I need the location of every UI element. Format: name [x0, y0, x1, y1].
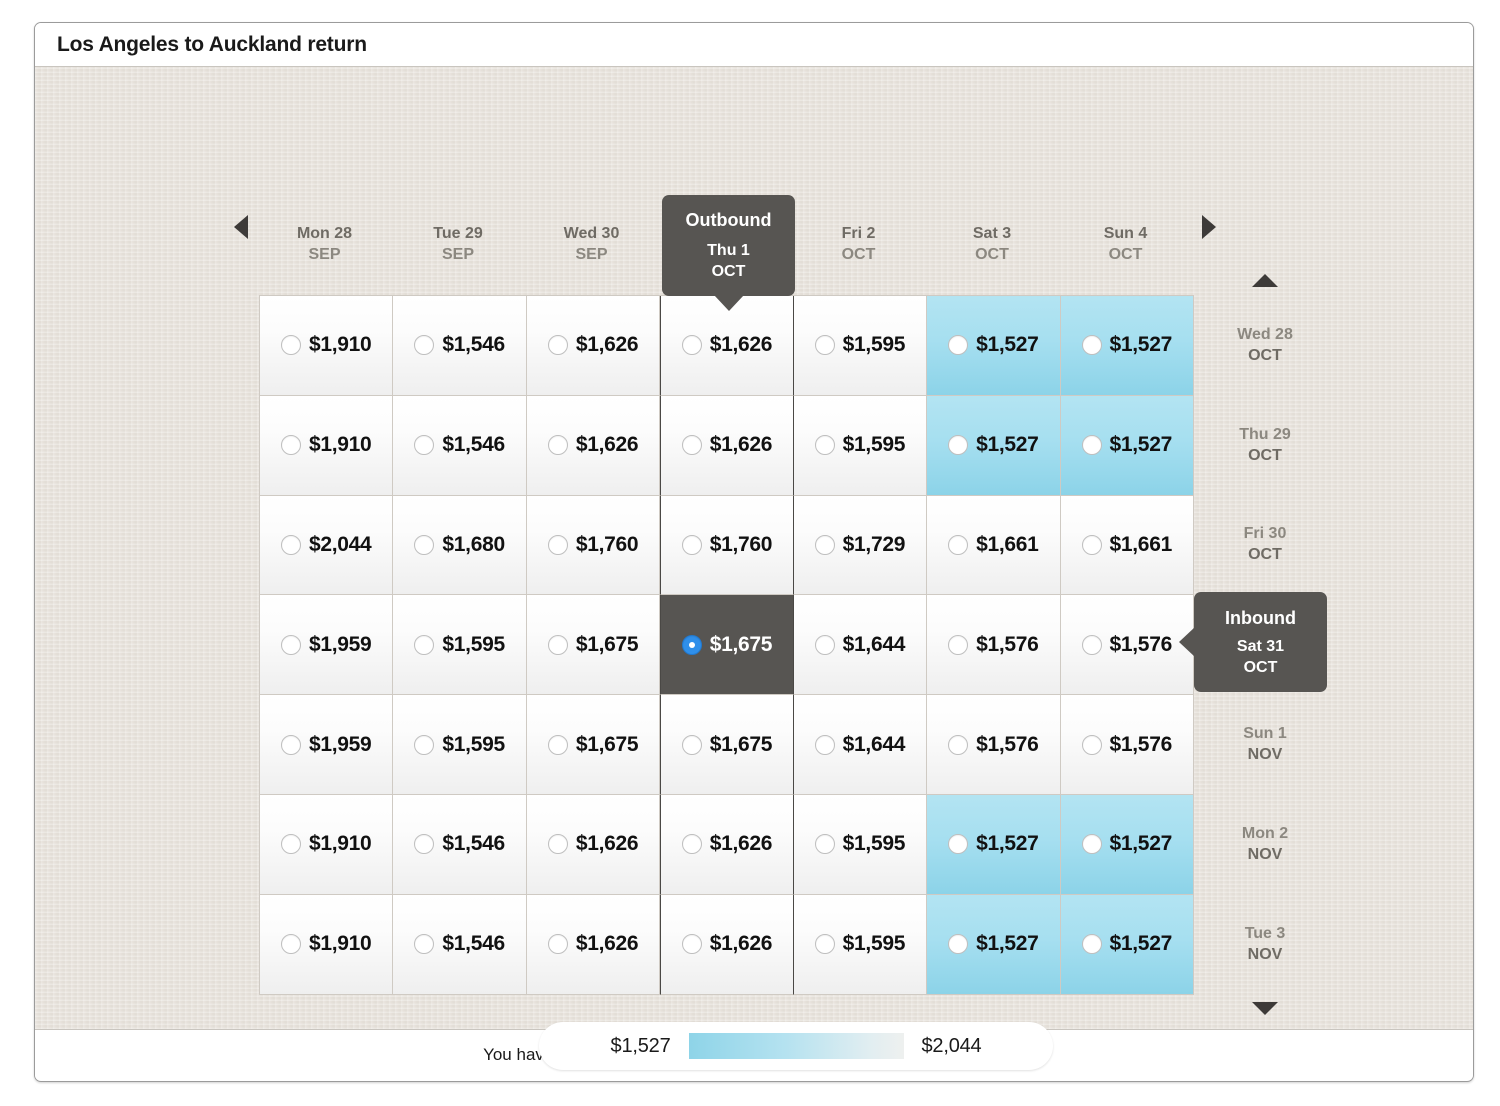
fare-radio[interactable]	[1082, 735, 1102, 755]
fare-radio[interactable]	[1082, 535, 1102, 555]
column-header-month: OCT	[925, 244, 1059, 265]
row-header-day: Sun 1	[1243, 723, 1287, 744]
row-header-day: Wed 28	[1237, 324, 1293, 345]
fare-cell-r1-c4[interactable]: $1,595	[794, 396, 927, 496]
fare-radio[interactable]	[281, 635, 301, 655]
fare-cell-r2-c4[interactable]: $1,729	[794, 496, 927, 596]
fare-cell-r6-c0[interactable]: $1,910	[260, 895, 393, 995]
fare-cell-r4-c2[interactable]: $1,675	[527, 695, 660, 795]
scroll-up-button[interactable]	[1199, 265, 1331, 295]
fare-radio[interactable]	[548, 435, 568, 455]
fare-cell-r1-c6[interactable]: $1,527	[1061, 396, 1194, 496]
fare-price: $1,595	[843, 932, 905, 956]
fare-radio[interactable]	[548, 335, 568, 355]
table-row: $1,910$1,546$1,626$1,626$1,595$1,527$1,5…	[260, 795, 1194, 895]
fare-radio[interactable]	[682, 535, 702, 555]
fare-radio[interactable]	[548, 834, 568, 854]
fare-price: $2,044	[309, 533, 371, 557]
fare-radio[interactable]	[414, 435, 434, 455]
column-header-day: Wed 30	[525, 223, 659, 244]
fare-price: $1,910	[309, 832, 371, 856]
row-header-month: OCT	[1248, 544, 1282, 565]
legend-gradient-bar	[689, 1033, 904, 1059]
fare-price: $1,644	[843, 733, 905, 757]
fare-cell-r3-c4[interactable]: $1,644	[794, 595, 927, 695]
fare-price: $1,910	[309, 433, 371, 457]
fare-price: $1,626	[576, 932, 638, 956]
row-header-month: OCT	[1248, 345, 1282, 366]
fare-radio[interactable]	[548, 535, 568, 555]
fare-cell-r2-c2[interactable]: $1,760	[527, 496, 660, 596]
fare-price: $1,661	[1110, 533, 1172, 557]
fare-cell-r2-c0[interactable]: $2,044	[260, 496, 393, 596]
fare-calendar-panel: Los Angeles to Auckland return Mon 28SEP…	[34, 22, 1474, 1082]
fare-radio[interactable]	[948, 335, 968, 355]
fare-price: $1,527	[1110, 433, 1172, 457]
fare-price: $1,595	[843, 832, 905, 856]
fare-price: $1,910	[309, 333, 371, 357]
fare-matrix-area: Mon 28SEPTue 29SEPWed 30SEPThu 1OCTFri 2…	[35, 67, 1473, 1030]
triangle-up-icon	[1252, 274, 1278, 287]
fare-cell-r5-c4[interactable]: $1,595	[794, 795, 927, 895]
column-header-day: Tue 29	[391, 223, 525, 244]
triangle-right-icon	[1202, 215, 1216, 239]
fare-radio[interactable]	[281, 934, 301, 954]
fare-cell-r4-c3[interactable]: $1,675	[660, 695, 793, 795]
fare-radio[interactable]	[281, 735, 301, 755]
fare-cell-r1-c5[interactable]: $1,527	[927, 396, 1060, 496]
column-header-month: SEP	[525, 244, 659, 265]
prev-week-button[interactable]	[225, 195, 258, 275]
column-header-month: SEP	[258, 244, 392, 265]
fare-cell-r5-c1[interactable]: $1,546	[393, 795, 526, 895]
row-header-4[interactable]: Sun 1NOV	[1199, 694, 1331, 794]
fare-radio[interactable]	[682, 435, 702, 455]
table-row: $1,910$1,546$1,626$1,626$1,595$1,527$1,5…	[260, 895, 1194, 995]
fare-price: $1,527	[976, 333, 1038, 357]
fare-price: $1,626	[576, 433, 638, 457]
fare-cell-r0-c2[interactable]: $1,626	[527, 296, 660, 396]
legend-max-value: $2,044	[922, 1035, 982, 1058]
fare-radio[interactable]	[948, 535, 968, 555]
page-title: Los Angeles to Auckland return	[57, 33, 367, 57]
column-header-day: Mon 28	[258, 223, 392, 244]
fare-radio[interactable]	[414, 635, 434, 655]
fare-price: $1,595	[442, 633, 504, 657]
outbound-label-month: OCT	[712, 263, 746, 280]
fare-cell-r2-c6[interactable]: $1,661	[1061, 496, 1194, 596]
fare-cell-r4-c6[interactable]: $1,576	[1061, 695, 1194, 795]
fare-cell-r4-c0[interactable]: $1,959	[260, 695, 393, 795]
fare-cell-r3-c6[interactable]: $1,576	[1061, 595, 1194, 695]
fare-price: $1,546	[442, 433, 504, 457]
fare-price: $1,626	[710, 333, 772, 357]
fare-cell-r0-c4[interactable]: $1,595	[794, 296, 927, 396]
fare-price: $1,527	[976, 832, 1038, 856]
fare-radio[interactable]	[1082, 335, 1102, 355]
fare-radio[interactable]	[815, 834, 835, 854]
panel-header: Los Angeles to Auckland return	[35, 23, 1473, 67]
triangle-left-icon	[234, 215, 248, 239]
column-header-day: Sun 4	[1059, 223, 1193, 244]
fare-radio[interactable]	[548, 735, 568, 755]
column-header-1[interactable]: Tue 29SEP	[391, 195, 525, 275]
fare-cell-r3-c0[interactable]: $1,959	[260, 595, 393, 695]
fare-radio[interactable]	[281, 535, 301, 555]
fare-radio[interactable]	[682, 834, 702, 854]
fare-radio[interactable]	[948, 834, 968, 854]
fare-radio[interactable]	[414, 934, 434, 954]
fare-cell-r2-c3[interactable]: $1,760	[660, 496, 793, 596]
fare-radio[interactable]	[1082, 435, 1102, 455]
fare-price: $1,644	[843, 633, 905, 657]
fare-cell-r0-c1[interactable]: $1,546	[393, 296, 526, 396]
fare-price: $1,675	[576, 633, 638, 657]
fare-cell-r6-c1[interactable]: $1,546	[393, 895, 526, 995]
row-header-2[interactable]: Fri 30OCT	[1199, 495, 1331, 595]
fare-cell-r6-c2[interactable]: $1,626	[527, 895, 660, 995]
fare-radio[interactable]	[414, 535, 434, 555]
fare-price: $1,595	[442, 733, 504, 757]
fare-radio[interactable]	[414, 335, 434, 355]
column-header-2[interactable]: Wed 30SEP	[525, 195, 659, 275]
fare-price: $1,675	[576, 733, 638, 757]
fare-price: $1,626	[710, 932, 772, 956]
row-header-day: Fri 30	[1244, 523, 1287, 544]
fare-price: $1,760	[710, 533, 772, 557]
fare-price: $1,595	[843, 333, 905, 357]
fare-cell-r4-c1[interactable]: $1,595	[393, 695, 526, 795]
fare-radio[interactable]	[815, 735, 835, 755]
fare-radio[interactable]	[1082, 635, 1102, 655]
row-header-day: Thu 29	[1239, 424, 1291, 445]
triangle-down-icon	[1252, 1002, 1278, 1015]
fare-cell-r6-c4[interactable]: $1,595	[794, 895, 927, 995]
outbound-label-title: Outbound	[662, 207, 795, 233]
fare-radio[interactable]	[815, 635, 835, 655]
fare-price: $1,576	[976, 633, 1038, 657]
fare-radio[interactable]	[548, 934, 568, 954]
fare-price: $1,910	[309, 932, 371, 956]
fare-radio[interactable]	[948, 635, 968, 655]
table-row: $1,959$1,595$1,675$1,675$1,644$1,576$1,5…	[260, 595, 1194, 695]
fare-radio[interactable]	[281, 834, 301, 854]
fare-radio[interactable]	[948, 735, 968, 755]
fare-radio[interactable]	[682, 735, 702, 755]
fare-cell-r3-c3[interactable]: $1,675	[660, 595, 793, 695]
row-header-0[interactable]: Wed 28OCT	[1199, 295, 1331, 395]
fare-price: $1,675	[710, 633, 772, 657]
fare-price: $1,546	[442, 333, 504, 357]
fare-cell-r1-c3[interactable]: $1,626	[660, 396, 793, 496]
table-row: $1,959$1,595$1,675$1,675$1,644$1,576$1,5…	[260, 695, 1194, 795]
row-header-month: NOV	[1248, 744, 1283, 765]
fare-price: $1,527	[976, 932, 1038, 956]
fare-price: $1,626	[710, 832, 772, 856]
fare-cell-r2-c1[interactable]: $1,680	[393, 496, 526, 596]
row-header-month: NOV	[1248, 844, 1283, 865]
fare-radio[interactable]	[948, 934, 968, 954]
row-header-month: NOV	[1248, 944, 1283, 965]
fare-cell-r0-c5[interactable]: $1,527	[927, 296, 1060, 396]
column-header-day: Fri 2	[792, 223, 926, 244]
fare-cell-r6-c5[interactable]: $1,527	[927, 895, 1060, 995]
column-header-0[interactable]: Mon 28SEP	[258, 195, 392, 275]
fare-price: $1,595	[843, 433, 905, 457]
fare-price: $1,527	[976, 433, 1038, 457]
column-header-month: OCT	[792, 244, 926, 265]
fare-cell-r1-c2[interactable]: $1,626	[527, 396, 660, 496]
fare-cell-r1-c1[interactable]: $1,546	[393, 396, 526, 496]
fare-cell-r5-c2[interactable]: $1,626	[527, 795, 660, 895]
fare-cell-r1-c0[interactable]: $1,910	[260, 396, 393, 496]
outbound-label-day: Thu 1	[707, 242, 750, 259]
fare-price: $1,760	[576, 533, 638, 557]
row-header-day: Mon 2	[1242, 823, 1288, 844]
column-header-5[interactable]: Sat 3OCT	[925, 195, 1059, 275]
inbound-label-month: OCT	[1244, 659, 1278, 676]
column-header-6[interactable]: Sun 4OCT	[1059, 195, 1193, 275]
fare-radio[interactable]	[948, 435, 968, 455]
outbound-date-label: Outbound Thu 1 OCT	[662, 195, 795, 296]
fare-grid: $1,910$1,546$1,626$1,626$1,595$1,527$1,5…	[259, 295, 1194, 995]
fare-radio[interactable]	[281, 335, 301, 355]
table-row: $1,910$1,546$1,626$1,626$1,595$1,527$1,5…	[260, 396, 1194, 496]
fare-cell-r2-c5[interactable]: $1,661	[927, 496, 1060, 596]
fare-price: $1,546	[442, 832, 504, 856]
fare-radio[interactable]	[682, 635, 702, 655]
fare-price: $1,546	[442, 932, 504, 956]
fare-price: $1,729	[843, 533, 905, 557]
legend-min-value: $1,527	[611, 1035, 671, 1058]
fare-price: $1,576	[1110, 733, 1172, 757]
fare-radio[interactable]	[682, 335, 702, 355]
fare-cell-r5-c6[interactable]: $1,527	[1061, 795, 1194, 895]
inbound-label-title: Inbound	[1225, 606, 1296, 630]
fare-radio[interactable]	[815, 335, 835, 355]
fare-price: $1,675	[710, 733, 772, 757]
fare-cell-r6-c3[interactable]: $1,626	[660, 895, 793, 995]
fare-price: $1,527	[1110, 333, 1172, 357]
fare-cell-r3-c5[interactable]: $1,576	[927, 595, 1060, 695]
fare-cell-r6-c6[interactable]: $1,527	[1061, 895, 1194, 995]
fare-price: $1,527	[1110, 932, 1172, 956]
row-header-1[interactable]: Thu 29OCT	[1199, 395, 1331, 495]
fare-price: $1,527	[1110, 832, 1172, 856]
fare-radio[interactable]	[1082, 834, 1102, 854]
inbound-date-label: Inbound Sat 31 OCT	[1194, 592, 1327, 692]
row-header-day: Tue 3	[1245, 923, 1286, 944]
fare-radio[interactable]	[281, 435, 301, 455]
fare-radio[interactable]	[414, 735, 434, 755]
fare-cell-r3-c1[interactable]: $1,595	[393, 595, 526, 695]
fare-price: $1,626	[710, 433, 772, 457]
column-header-4[interactable]: Fri 2OCT	[792, 195, 926, 275]
fare-radio[interactable]	[815, 435, 835, 455]
fare-cell-r5-c0[interactable]: $1,910	[260, 795, 393, 895]
fare-cell-r0-c6[interactable]: $1,527	[1061, 296, 1194, 396]
column-header-month: OCT	[1059, 244, 1193, 265]
fare-radio[interactable]	[682, 934, 702, 954]
row-header-5[interactable]: Mon 2NOV	[1199, 794, 1331, 894]
column-header-day: Sat 3	[925, 223, 1059, 244]
fare-price: $1,959	[309, 633, 371, 657]
column-header-month: SEP	[391, 244, 525, 265]
fare-price: $1,959	[309, 733, 371, 757]
fare-cell-r4-c4[interactable]: $1,644	[794, 695, 927, 795]
fare-cell-r0-c0[interactable]: $1,910	[260, 296, 393, 396]
fare-radio[interactable]	[815, 535, 835, 555]
fare-radio[interactable]	[1082, 934, 1102, 954]
fare-cell-r5-c3[interactable]: $1,626	[660, 795, 793, 895]
fare-radio[interactable]	[414, 834, 434, 854]
row-header-6[interactable]: Tue 3NOV	[1199, 894, 1331, 994]
fare-price: $1,680	[442, 533, 504, 557]
table-row: $2,044$1,680$1,760$1,760$1,729$1,661$1,6…	[260, 496, 1194, 596]
fare-radio[interactable]	[548, 635, 568, 655]
inbound-label-day: Sat 31	[1237, 638, 1284, 655]
fare-cell-r4-c5[interactable]: $1,576	[927, 695, 1060, 795]
scroll-down-button[interactable]	[1199, 994, 1331, 1024]
fare-price: $1,576	[976, 733, 1038, 757]
fare-price: $1,626	[576, 333, 638, 357]
price-legend: $1,527 $2,044	[539, 1022, 1053, 1070]
row-header-month: OCT	[1248, 445, 1282, 466]
fare-cell-r3-c2[interactable]: $1,675	[527, 595, 660, 695]
fare-price: $1,576	[1110, 633, 1172, 657]
fare-radio[interactable]	[815, 934, 835, 954]
next-week-button[interactable]	[1192, 195, 1225, 275]
fare-price: $1,626	[576, 832, 638, 856]
fare-price: $1,661	[976, 533, 1038, 557]
fare-cell-r5-c5[interactable]: $1,527	[927, 795, 1060, 895]
